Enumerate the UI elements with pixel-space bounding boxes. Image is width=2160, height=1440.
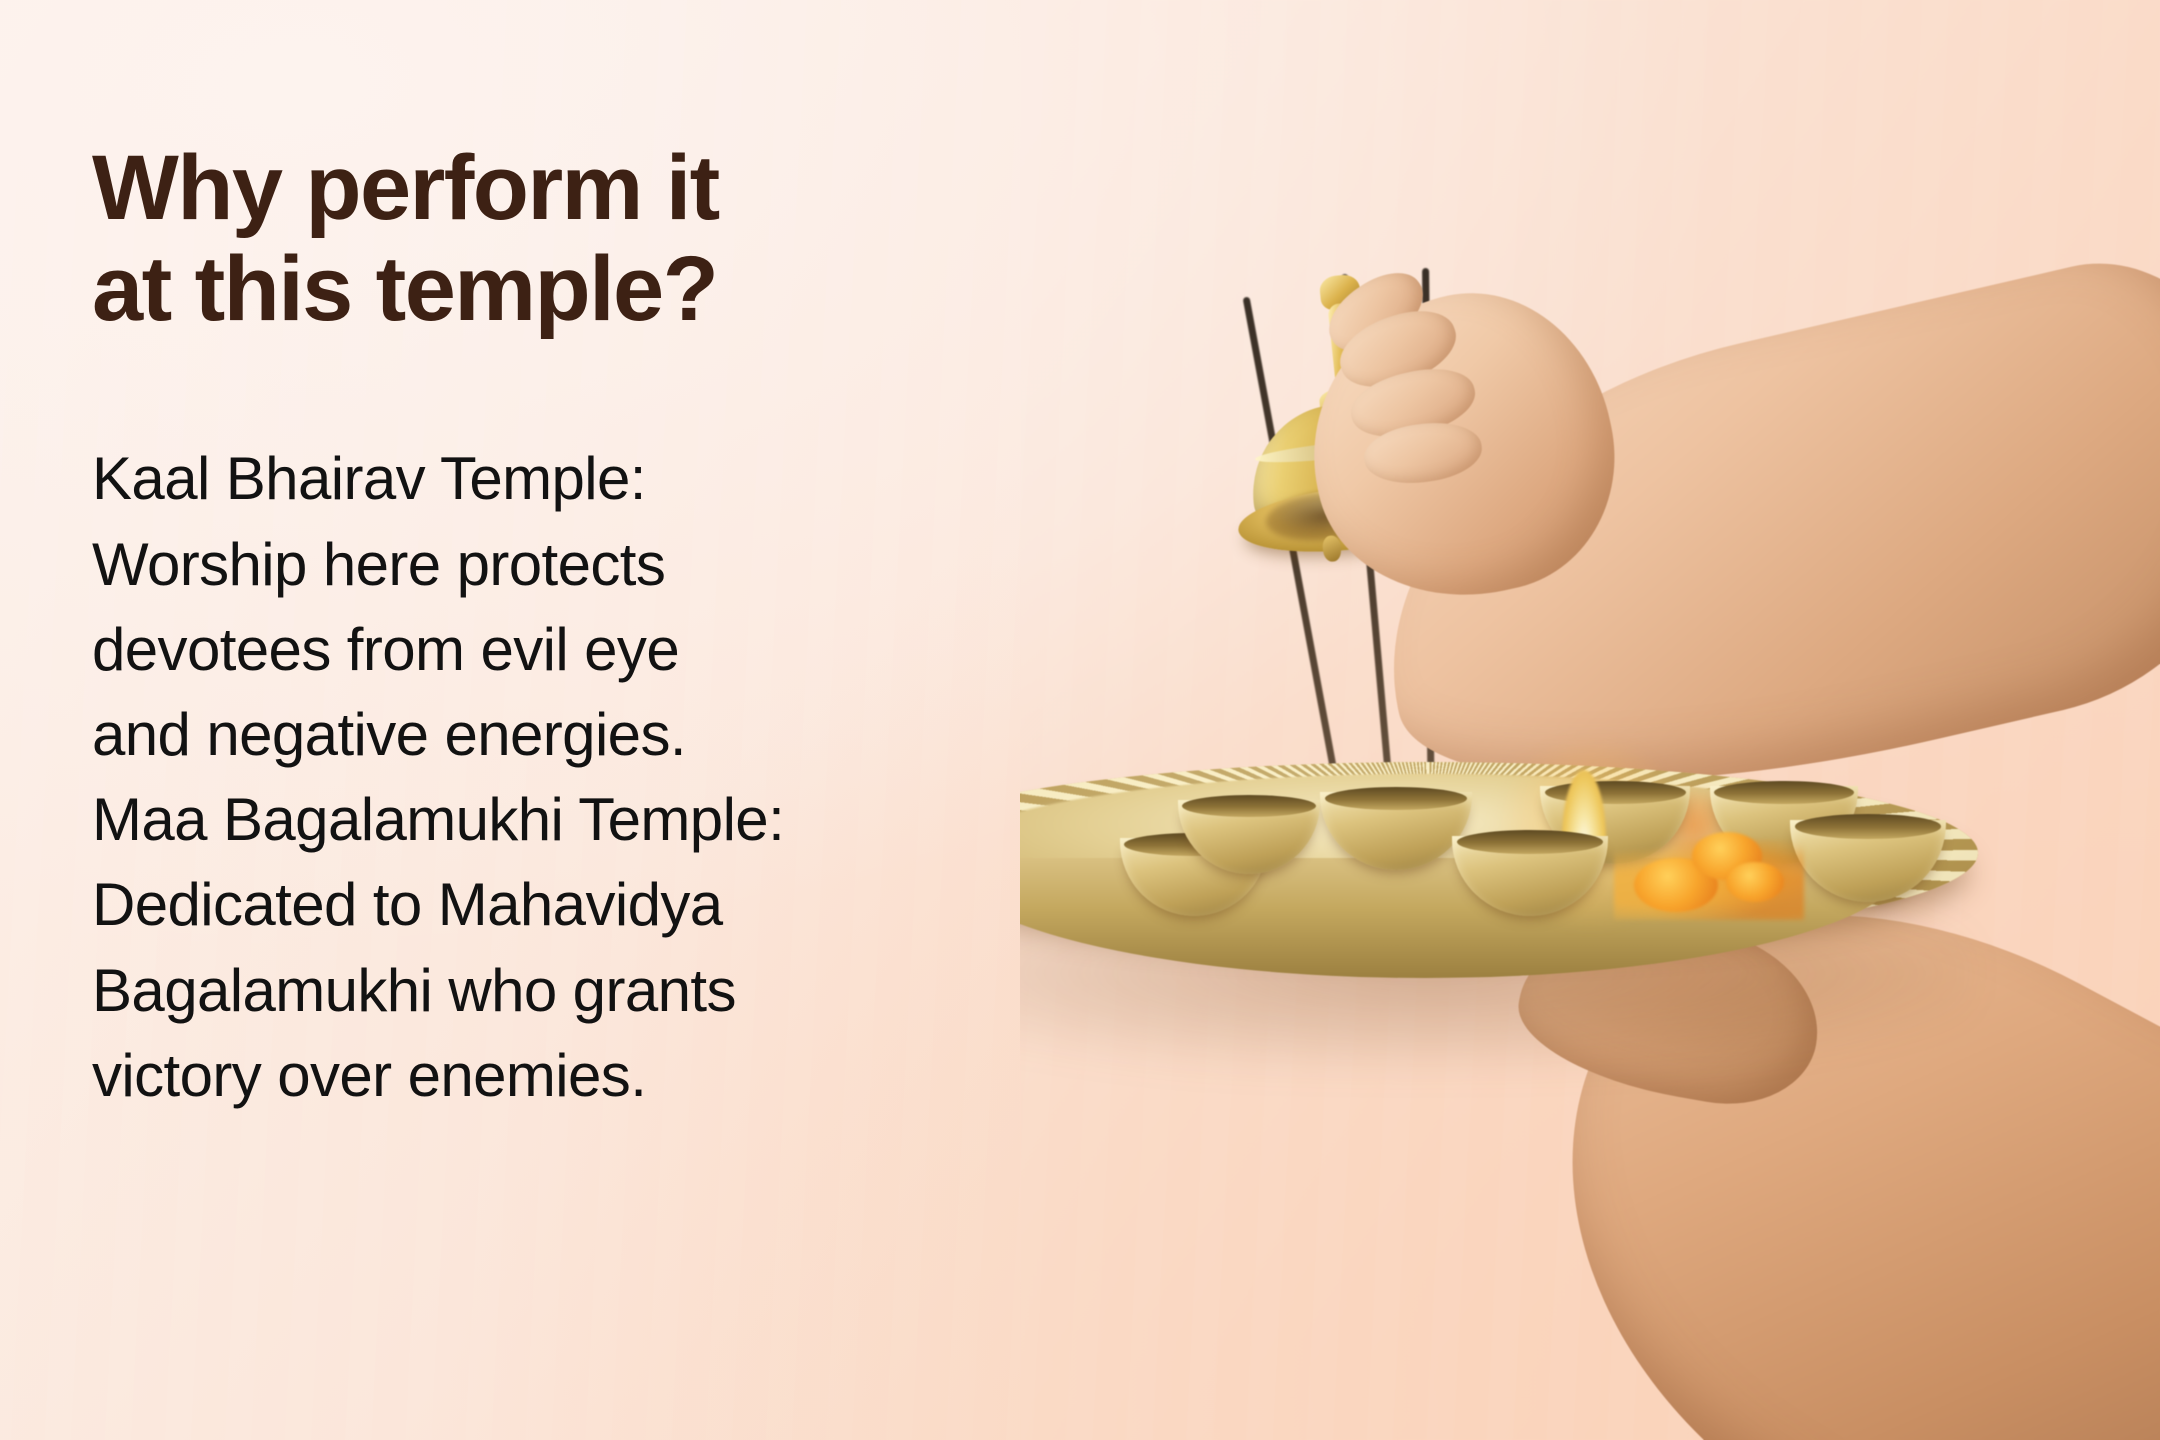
text-column: Why perform it at this temple? Kaal Bhai… [92,138,1092,1118]
slide-canvas: Why perform it at this temple? Kaal Bhai… [0,0,2160,1440]
marigold-flower-icon [1726,862,1784,902]
puja-photo [1020,0,2160,1440]
page-title: Why perform it at this temple? [92,138,1092,340]
body-paragraph: Kaal Bhairav Temple: Worship here protec… [92,436,1092,1118]
